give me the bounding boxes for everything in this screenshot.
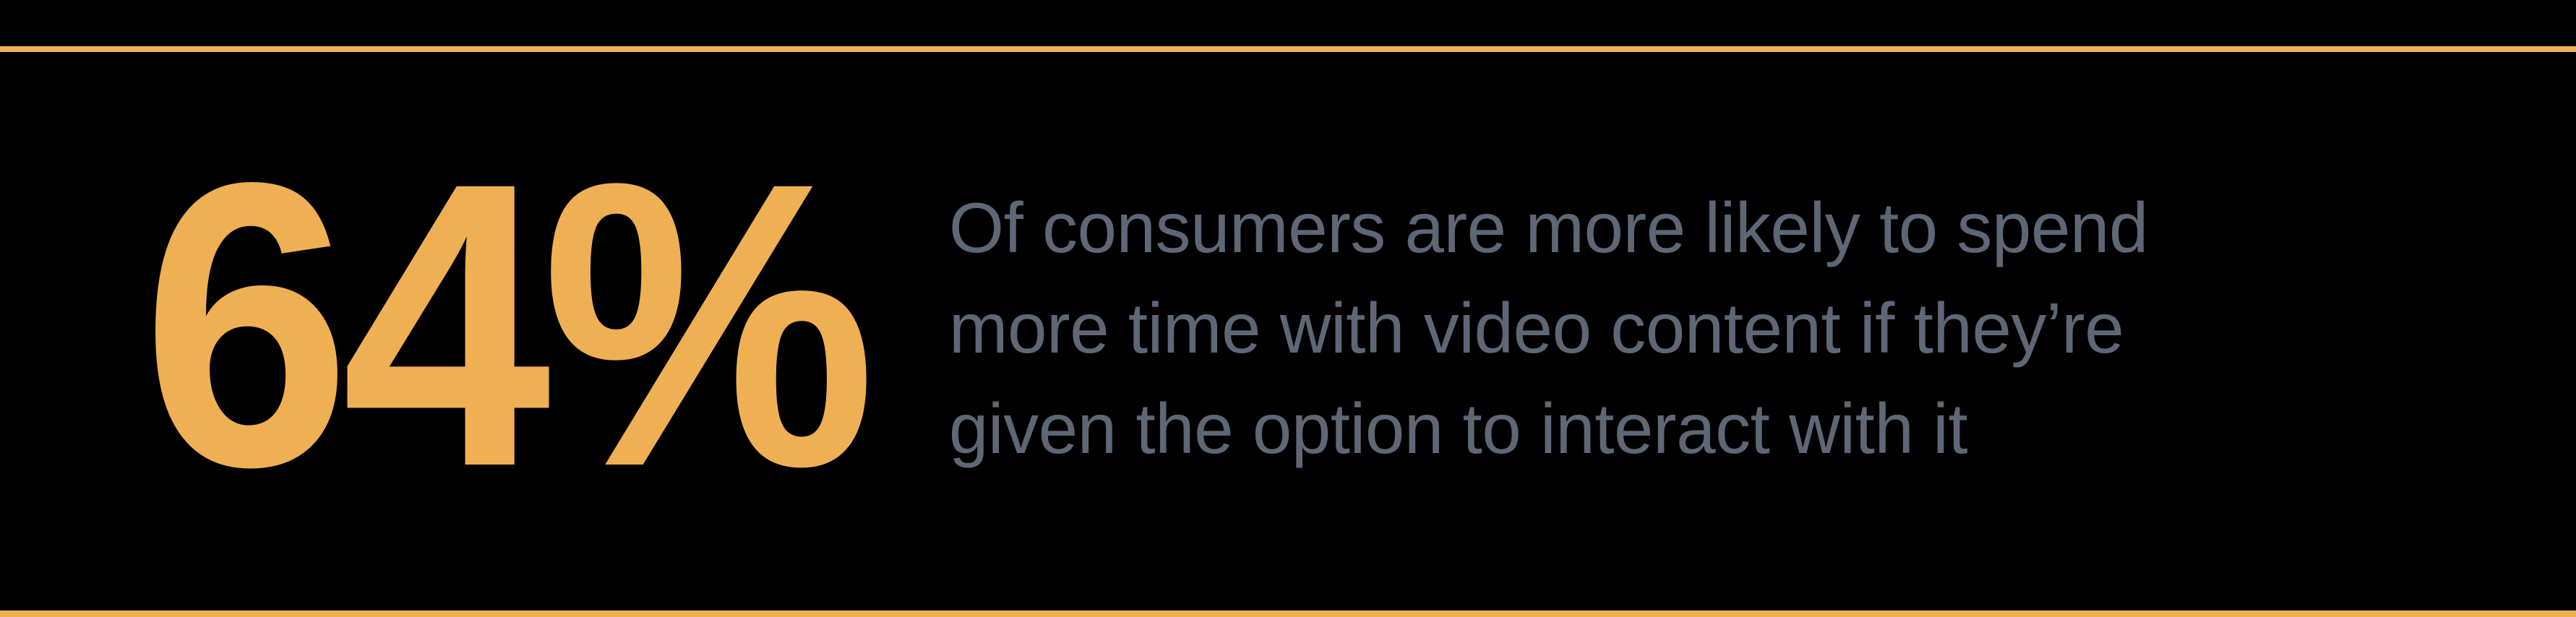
description-line-1: Of consumers are more likely to spend [949,178,2547,278]
description-line-2: more time with video content if they’re [949,278,2547,379]
statistic-figure-container: 64% [0,52,922,610]
description-container: Of consumers are more likely to spend mo… [922,49,2576,608]
bottom-accent-rule [0,610,2576,617]
description-line-3: given the option to interact with it [949,379,2547,479]
statistic-value: 64% [142,159,867,491]
statistic-banner: 64% Of consumers are more likely to spen… [0,0,2576,617]
banner-content: 64% Of consumers are more likely to spen… [0,52,2576,610]
